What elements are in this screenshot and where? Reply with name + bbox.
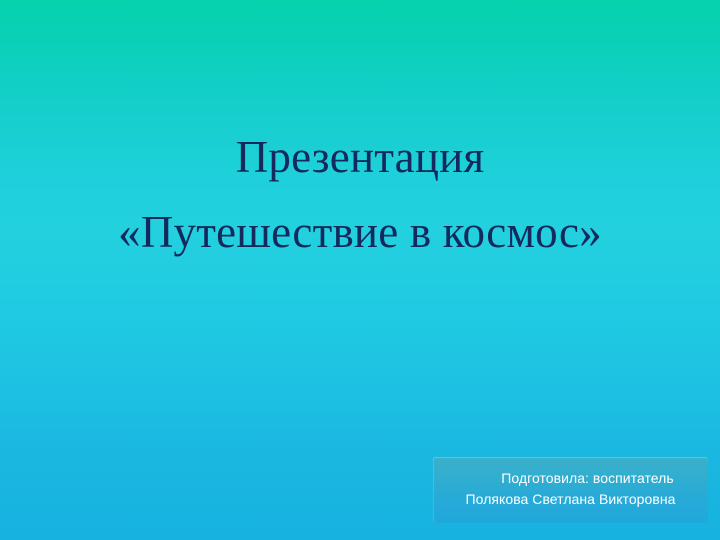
title-line-2: «Путешествие в космос»	[0, 203, 720, 261]
title-block: Презентация «Путешествие в космос»	[0, 128, 720, 261]
slide-canvas: Презентация «Путешествие в космос» Подго…	[0, 0, 720, 540]
author-credit-panel: Подготовила: воспитатель Полякова Светла…	[433, 457, 708, 523]
title-line-1: Презентация	[0, 128, 720, 186]
author-role-line: Подготовила: воспитатель	[467, 468, 673, 489]
author-name-line: Полякова Светлана Викторовна	[466, 489, 676, 510]
